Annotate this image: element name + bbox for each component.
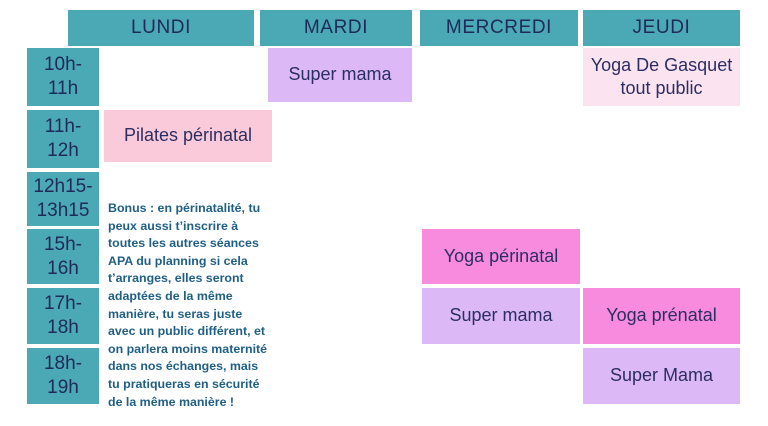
time-start: 17h- bbox=[44, 292, 82, 316]
day-header-mercredi: MERCREDI bbox=[420, 10, 578, 46]
time-end: 12h bbox=[47, 139, 79, 163]
day-header-lundi: LUNDI bbox=[68, 10, 254, 46]
class-cell-jeudi-17h[interactable]: Yoga prénatal bbox=[583, 288, 740, 344]
time-start: 18h- bbox=[44, 352, 82, 376]
time-start: 12h15- bbox=[33, 175, 92, 199]
time-slot-10h-11h: 10h- 11h bbox=[27, 48, 99, 106]
time-end: 19h bbox=[47, 376, 79, 400]
class-cell-mardi-10h[interactable]: Super mama bbox=[268, 48, 412, 102]
time-end: 16h bbox=[47, 257, 79, 281]
time-start: 11h- bbox=[45, 115, 82, 139]
day-header-mardi: MARDI bbox=[260, 10, 412, 46]
time-slot-11h-12h: 11h- 12h bbox=[27, 110, 99, 168]
time-slot-18h-19h: 18h- 19h bbox=[27, 348, 99, 404]
time-end: 11h bbox=[48, 77, 78, 101]
time-slot-15h-16h: 15h- 16h bbox=[27, 229, 99, 284]
time-slot-17h-18h: 17h- 18h bbox=[27, 288, 99, 344]
time-start: 15h- bbox=[44, 233, 82, 257]
class-cell-mercredi-15h[interactable]: Yoga périnatal bbox=[422, 229, 580, 284]
class-cell-jeudi-10h[interactable]: Yoga De Gasquet tout public bbox=[583, 48, 740, 106]
time-end: 18h bbox=[47, 316, 79, 340]
day-header-jeudi: JEUDI bbox=[583, 10, 740, 46]
class-cell-mercredi-17h[interactable]: Super mama bbox=[422, 288, 580, 344]
bonus-note: Bonus : en périnatalité, tu peux aussi t… bbox=[108, 200, 268, 411]
class-cell-jeudi-18h[interactable]: Super Mama bbox=[583, 348, 740, 404]
time-end: 13h15 bbox=[37, 199, 90, 223]
class-cell-lundi-11h[interactable]: Pilates périnatal bbox=[104, 110, 272, 162]
time-start: 10h- bbox=[44, 53, 82, 77]
weekly-schedule-table: LUNDI MARDI MERCREDI JEUDI 10h- 11h 11h-… bbox=[0, 0, 768, 426]
time-slot-12h15-13h15: 12h15- 13h15 bbox=[27, 172, 99, 226]
